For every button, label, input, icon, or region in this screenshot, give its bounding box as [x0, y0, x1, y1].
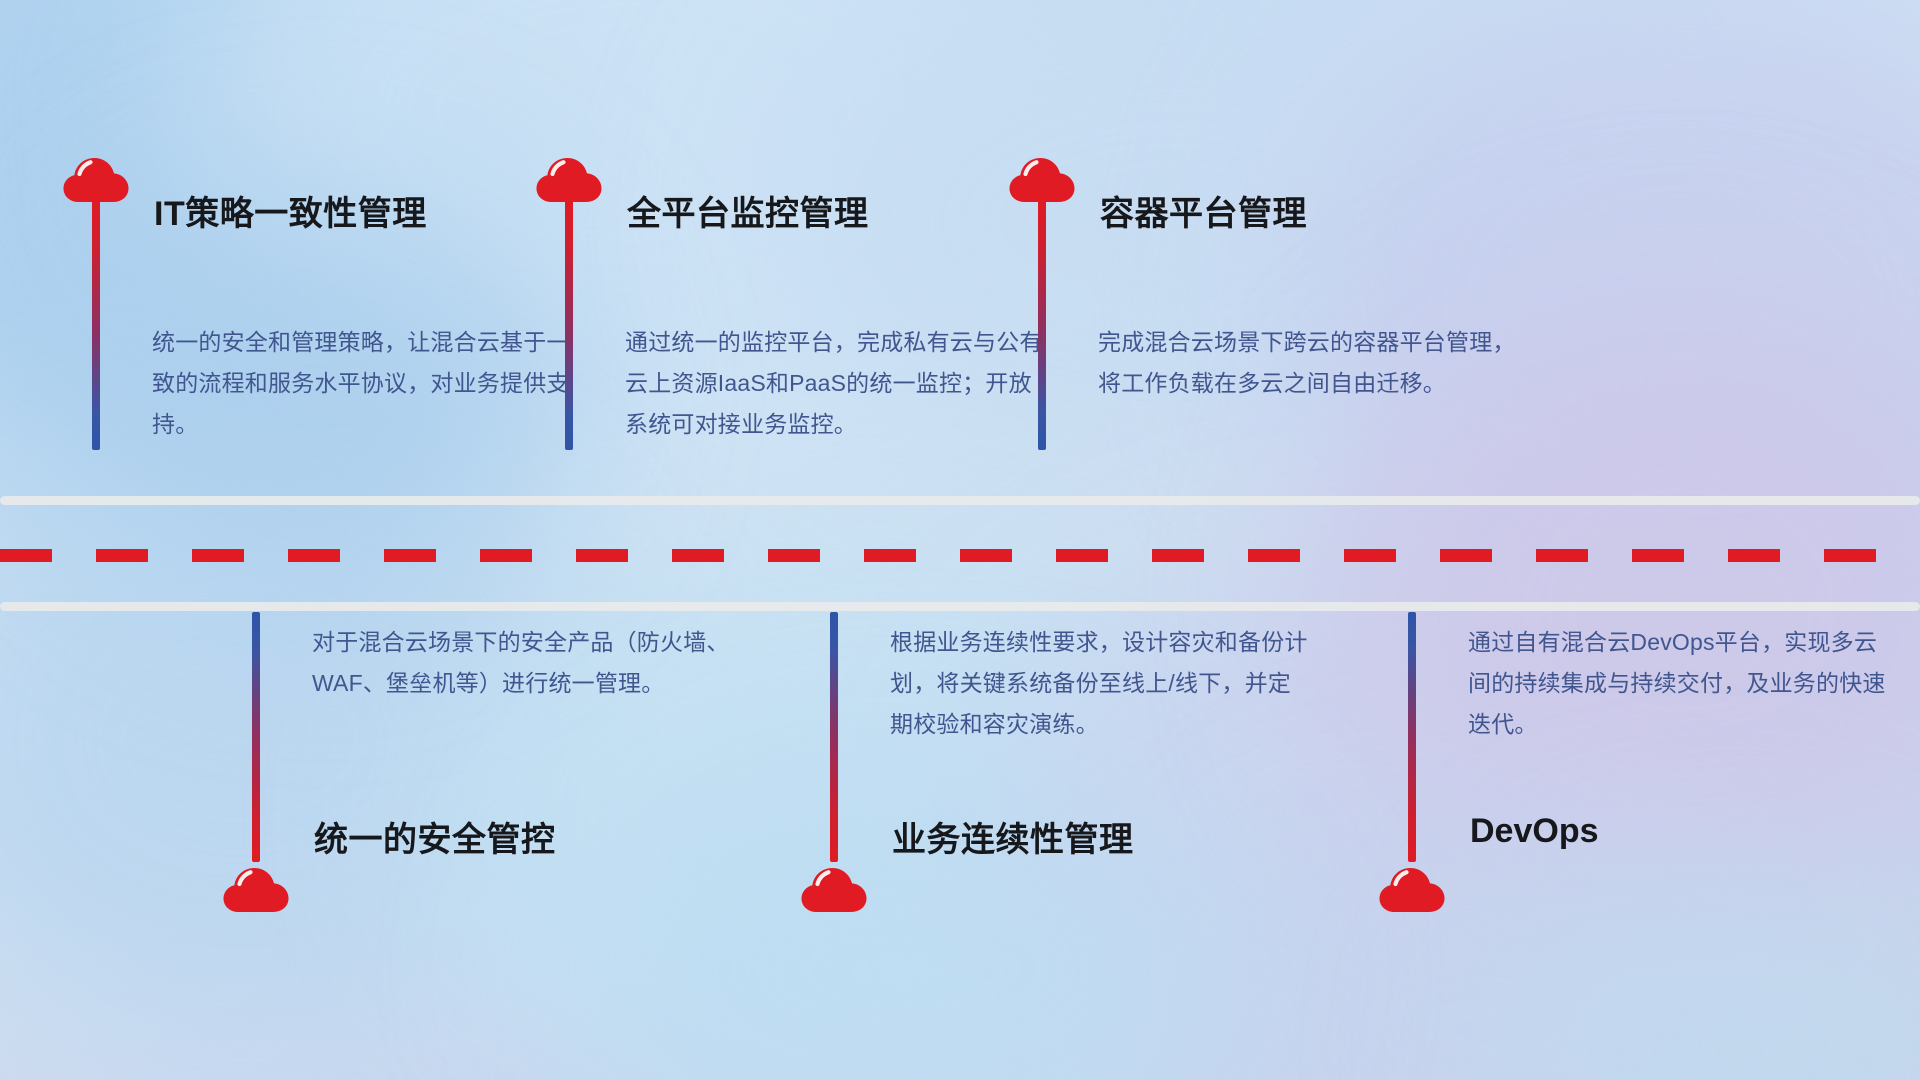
road-edge-line-top: [0, 496, 1920, 505]
pin-marker: [535, 150, 611, 450]
feature-heading: 全平台监控管理: [627, 186, 869, 235]
feature-description: 根据业务连续性要求，设计容灾和备份计划，将关键系统备份至线上/线下，并定期校验和…: [890, 622, 1310, 745]
pin-marker: [800, 612, 876, 912]
pin-stem: [565, 200, 573, 450]
cloud-icon: [535, 150, 603, 204]
feature-description: 通过统一的监控平台，完成私有云与公有云上资源IaaS和PaaS的统一监控；开放系…: [625, 322, 1045, 445]
cloud-icon: [62, 150, 130, 204]
background-gradient: [0, 0, 1920, 1080]
feature-heading: 容器平台管理: [1100, 186, 1307, 235]
pin-stem: [252, 612, 260, 862]
cloud-icon: [1008, 150, 1076, 204]
cloud-icon: [222, 860, 290, 914]
pin-stem: [1408, 612, 1416, 862]
feature-description: 通过自有混合云DevOps平台，实现多云间的持续集成与持续交付，及业务的快速迭代…: [1468, 622, 1888, 745]
pin-marker: [222, 612, 298, 912]
pin-marker: [1008, 150, 1084, 450]
pin-marker: [1378, 612, 1454, 912]
road-edge-line-bottom: [0, 602, 1920, 611]
feature-heading: IT策略一致性管理: [154, 186, 427, 235]
feature-heading: 业务连续性管理: [892, 812, 1134, 861]
cloud-icon: [800, 860, 868, 914]
feature-description: 对于混合云场景下的安全产品（防火墙、WAF、堡垒机等）进行统一管理。: [312, 622, 732, 704]
pin-marker: [62, 150, 138, 450]
road-center-dashed-line: [0, 549, 1920, 562]
feature-heading: 统一的安全管控: [314, 812, 556, 861]
cloud-icon: [1378, 860, 1446, 914]
feature-heading: DevOps: [1470, 812, 1599, 851]
feature-description: 完成混合云场景下跨云的容器平台管理，将工作负载在多云之间自由迁移。: [1098, 322, 1518, 404]
pin-stem: [830, 612, 838, 862]
infographic-canvas: IT策略一致性管理 统一的安全和管理策略，让混合云基于一致的流程和服务水平协议，…: [0, 0, 1920, 1080]
pin-stem: [1038, 200, 1046, 450]
pin-stem: [92, 200, 100, 450]
feature-description: 统一的安全和管理策略，让混合云基于一致的流程和服务水平协议，对业务提供支持。: [152, 322, 572, 445]
